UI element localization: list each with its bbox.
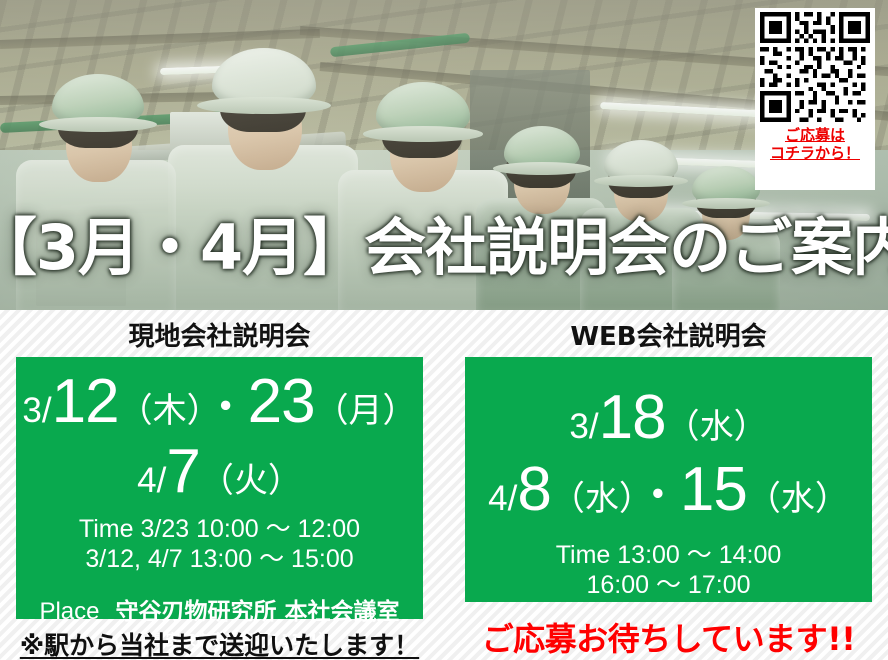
date-day: 12 [52,367,119,436]
time-row: Time 3/23 10:00 ～ 12:00 [16,515,423,545]
time-row: 16:00 ～ 17:00 [465,571,872,601]
date-separator: ・ [636,471,680,520]
closing-message: ご応募お待ちしています!! [465,614,872,660]
qr-caption-line1: ご応募は [770,127,860,145]
date-weekday: （水） [551,480,636,518]
session-onsite-date-2: 4/7（火） [16,441,423,503]
date-day: 18 [599,383,666,452]
place-label: Place [39,598,99,625]
time-row: Time 13:00 ～ 14:00 [465,541,872,571]
session-info-area: 現地会社説明会 3/12（木）・23（月） 4/7（火） Time 3/23 1… [0,310,888,660]
session-web-header: WEB会社説明会 [465,310,872,357]
session-onsite-date-1: 3/12（木）・23（月） [16,371,423,433]
recruitment-poster: 【3月・4月】会社説明会のご案内 [0,0,888,660]
date-day: 8 [517,455,550,524]
qr-caption: ご応募は コチラから！ [770,127,860,162]
date-day: 23 [248,367,315,436]
time-row: 3/12, 4/7 13:00 ～ 15:00 [16,545,423,575]
session-onsite-times: Time 3/23 10:00 ～ 12:00 3/12, 4/7 13:00 … [16,515,423,574]
date-weekday: （木） [119,392,204,430]
qr-application-block[interactable]: ご応募は コチラから！ [755,8,875,190]
session-onsite: 現地会社説明会 3/12（木）・23（月） 4/7（火） Time 3/23 1… [0,310,437,660]
date-month: 3/ [22,391,51,430]
shuttle-footnote: ※駅から当社まで送迎いたします！ [16,626,423,660]
date-month: 4/ [488,479,517,518]
date-weekday: （水） [666,408,768,446]
date-weekday: （火） [200,462,302,500]
session-web-date-2: 4/8（水）・15（水） [465,459,872,521]
qr-code-icon[interactable] [760,12,870,122]
date-month: 3/ [569,407,598,446]
column-divider [437,310,451,660]
date-month: 4/ [137,461,166,500]
poster-title-band: 【3月・4月】会社説明会のご案内 [0,196,888,288]
date-separator: ・ [204,383,248,432]
session-web-date-1: 3/18（水） [465,387,872,449]
session-onsite-header: 現地会社説明会 [16,310,423,357]
date-day: 15 [680,455,747,524]
date-weekday: （月） [315,392,417,430]
session-onsite-place: Place 守谷刃物研究所 本社会議室 [16,592,423,626]
page-title: 【3月・4月】会社説明会のご案内 [0,197,888,287]
shuttle-footnote-text: ※駅から当社まで送迎いたします！ [20,631,419,660]
session-onsite-panel: 3/12（木）・23（月） 4/7（火） Time 3/23 10:00 ～ 1… [16,357,423,619]
place-value: 守谷刃物研究所 本社会議室 [116,599,400,625]
session-web-panel: 3/18（水） 4/8（水）・15（水） Time 13:00 ～ 14:00 … [465,357,872,602]
date-day: 7 [166,437,199,506]
session-columns: 現地会社説明会 3/12（木）・23（月） 4/7（火） Time 3/23 1… [0,310,888,660]
qr-caption-line2: コチラから！ [770,145,860,163]
date-weekday: （水） [747,480,849,518]
session-web: WEB会社説明会 3/18（水） 4/8（水）・15（水） Time 13:00… [451,310,888,660]
session-web-times: Time 13:00 ～ 14:00 16:00 ～ 17:00 [465,541,872,600]
